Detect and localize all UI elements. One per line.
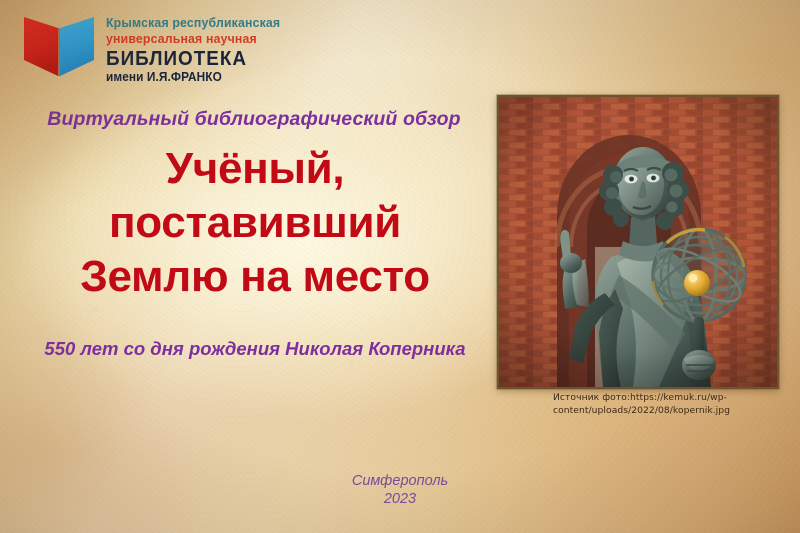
library-logo-text: Крымская республиканская универсальная н… [106, 13, 293, 85]
title-line-3: Землю на место [20, 250, 490, 304]
logo-line-3: БИБЛИОТЕКА [106, 48, 278, 70]
library-logo: Крымская республиканская универсальная н… [22, 13, 293, 85]
title-line-2: поставивший [20, 196, 490, 250]
photo-source-caption: Источник фото:https://kemuk.ru/wp-conten… [553, 391, 763, 418]
year-label: 2023 [0, 490, 800, 508]
city-label: Симферополь [0, 472, 800, 490]
slide-title: Учёный, поставивший Землю на место [20, 142, 490, 304]
place-and-year: Симферополь 2023 [0, 472, 800, 508]
logo-line-1: Крымская республиканская [106, 16, 280, 30]
open-book-logo-icon [22, 13, 96, 79]
title-line-1: Учёный, [20, 142, 490, 196]
copernicus-statue-illustration [499, 97, 777, 387]
presentation-slide: Крымская республиканская универсальная н… [0, 0, 800, 533]
logo-line-4: имени И.Я.ФРАНКО [106, 71, 282, 85]
slide-kicker: Виртуальный библиографический обзор [28, 108, 480, 131]
logo-line-2: универсальная научная [106, 31, 280, 46]
copernicus-statue-photo [497, 95, 779, 389]
slide-subtitle: 550 лет со дня рождения Николая Коперник… [20, 338, 490, 360]
